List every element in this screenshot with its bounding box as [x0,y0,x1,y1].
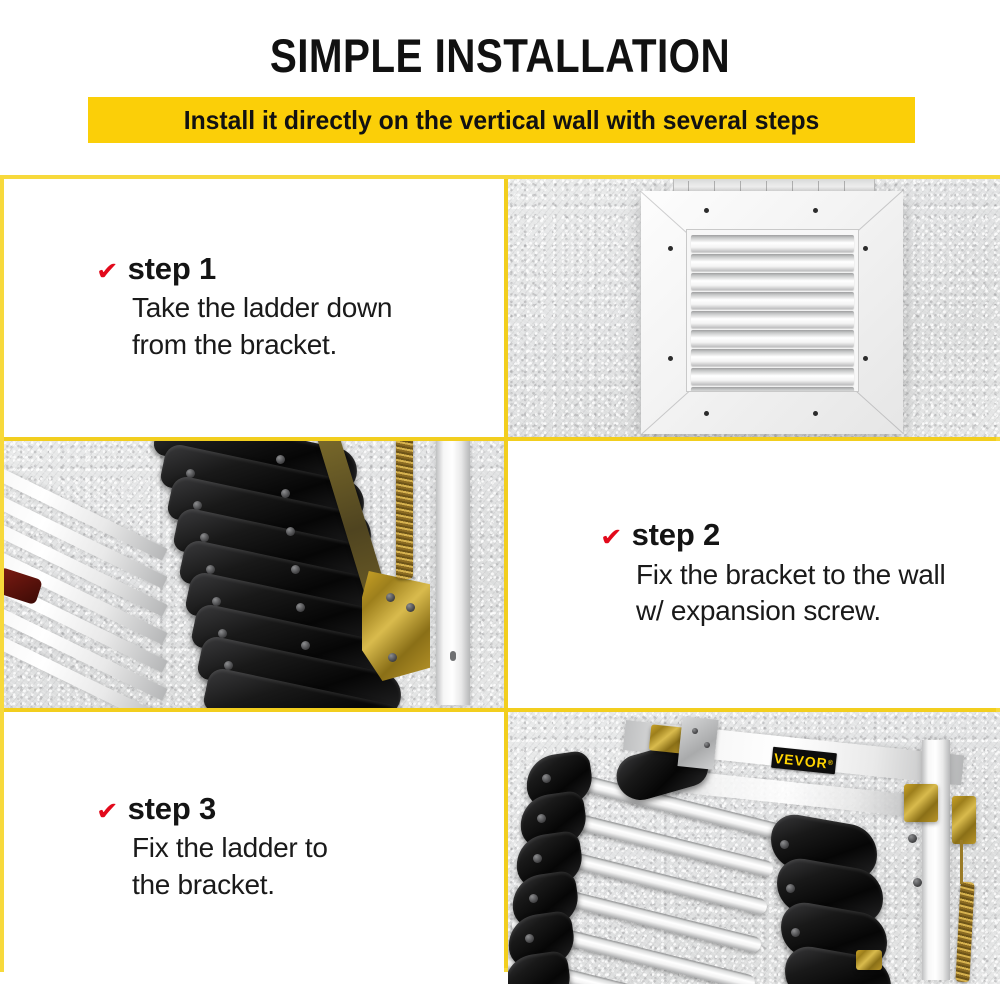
frame-screw [668,356,673,361]
ladder-frame [641,191,903,434]
frame-screw [813,208,818,213]
step-1-heading: ✔ step 1 [96,253,392,286]
shoe-rivet [791,928,800,937]
frame-screw [668,246,673,251]
step-3-photo-cell: VEVOR® [508,712,1000,984]
brass-hinge [904,784,938,822]
shoe-rivet [529,894,538,903]
shoe-rivet [301,641,310,650]
spring-hook [960,840,963,884]
shoe-rivet [212,597,221,606]
frame-screw [704,411,709,416]
bracket-rivet [692,728,698,734]
expansion-bracket [362,571,430,681]
shoe-rivet [281,489,290,498]
shoe-rivet [525,934,534,943]
vevor-logo-text: VEVOR [773,749,828,771]
step-3-text: ✔ step 3 Fix the ladder to the bracket. [4,793,346,903]
step-3-photo: VEVOR® [508,712,1000,984]
shoe-rivet [913,878,922,887]
shoe-rivet [206,565,215,574]
bracket-rivet [388,653,397,662]
frame-rail [436,441,470,705]
frame-screw [704,208,709,213]
step-2-photo [4,441,504,708]
step-3-heading: ✔ step 3 [96,793,328,826]
shoe-rivet [276,455,285,464]
shoe-rivet [193,501,202,510]
frame-side-rail [922,740,950,980]
step-2-desc-line-2: w/ expansion screw. [636,593,945,629]
shoe-rivet [186,469,195,478]
check-icon: ✔ [96,799,119,824]
shoe-rivet [291,565,300,574]
bracket-rivet [386,593,395,602]
rung-stack [691,233,854,386]
shoe-rivet [218,629,227,638]
subtitle-banner: Install it directly on the vertical wall… [88,97,915,143]
subtitle-text: Install it directly on the vertical wall… [184,105,820,136]
step-3-label: step 3 [128,793,216,826]
step-1-desc-line-2: from the bracket. [132,327,392,363]
brass-hinge [856,950,882,970]
step-3-description: Fix the ladder to the bracket. [132,830,328,903]
step-1-text: ✔ step 1 Take the ladder down from the b… [4,253,410,363]
step-2-label: step 2 [632,519,720,552]
step-3-text-cell: ✔ step 3 Fix the ladder to the bracket. [4,712,504,984]
step-2-photo-cell [4,441,504,708]
step-2-heading: ✔ step 2 [600,519,945,552]
bracket-rivet [704,742,710,748]
shoe-rivet [786,884,795,893]
shoe-rivet [200,533,209,542]
step-1-text-cell: ✔ step 1 Take the ladder down from the b… [4,179,504,437]
shoe-rivet [908,834,917,843]
vevor-trademark: ® [827,760,834,768]
folded-ladder-rungs [686,229,859,392]
shoe-rivet [296,603,305,612]
infographic-page: SIMPLE INSTALLATION Install it directly … [0,0,1000,1000]
shoe-rivet [533,854,542,863]
bracket-rivet [406,603,415,612]
step-2-text-cell: ✔ step 2 Fix the bracket to the wall w/ … [508,441,1000,708]
brass-hinge [952,796,976,844]
page-title: SIMPLE INSTALLATION [70,28,930,83]
step-2-desc-line-1: Fix the bracket to the wall [636,557,945,593]
frame-screw [863,246,868,251]
tension-spring [396,441,413,579]
step-3-desc-line-2: the bracket. [132,867,328,903]
step-1-label: step 1 [128,253,216,286]
shoe-rivet [537,814,546,823]
step-3-desc-line-1: Fix the ladder to [132,830,328,866]
steps-grid: ✔ step 1 Take the ladder down from the b… [0,175,1000,972]
shoe-rivet [286,527,295,536]
check-icon: ✔ [600,525,623,550]
step-1-desc-line-1: Take the ladder down [132,290,392,326]
header: SIMPLE INSTALLATION Install it directly … [0,0,1000,175]
metal-bracket-plate [677,716,718,769]
step-1-photo [508,179,1000,437]
frame-screw [450,651,456,661]
step-2-text: ✔ step 2 Fix the bracket to the wall w/ … [508,519,963,629]
frame-screw [813,411,818,416]
shoe-rivet [542,774,551,783]
step-1-description: Take the ladder down from the bracket. [132,290,392,363]
step-2-description: Fix the bracket to the wall w/ expansion… [636,557,945,630]
shoe-rivet [224,661,233,670]
frame-screw [863,356,868,361]
shoe-rivet [780,840,789,849]
step-1-photo-cell [508,179,1000,437]
check-icon: ✔ [96,259,119,284]
